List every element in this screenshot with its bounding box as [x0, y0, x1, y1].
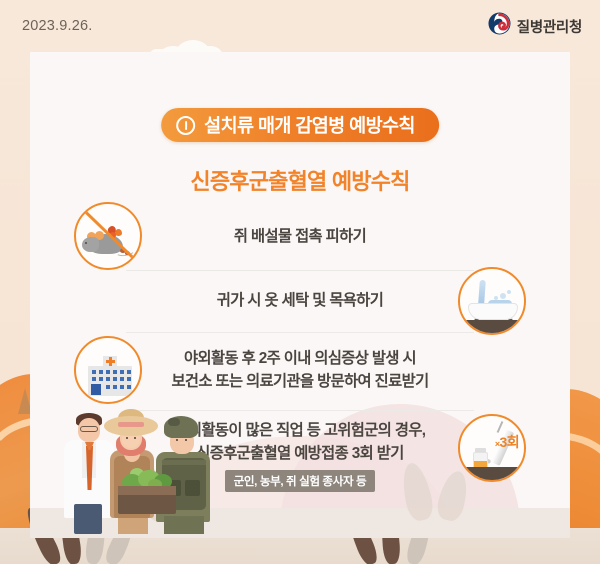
people-illustration: [52, 404, 230, 534]
agency-name: 질병관리청: [517, 16, 582, 37]
row-divider: [126, 270, 474, 271]
dose-count: 3회: [500, 434, 519, 450]
soldier-helmet-detail: [168, 418, 180, 426]
no-rat-icon: [74, 202, 142, 270]
soldier-legs: [164, 516, 204, 534]
hospital-icon: [74, 336, 142, 404]
syringe-icon: ×3회: [458, 414, 526, 482]
soldier-vest-strap: [162, 460, 206, 465]
soldier-pouch: [185, 480, 200, 496]
lab-researcher-pants: [74, 504, 102, 534]
rule-row: 쥐 배설물 접촉 피하기: [30, 204, 570, 270]
rule-text: 야외활동 후 2주 이내 의심증상 발생 시 보건소 또는 의료기관을 방문하여…: [85, 348, 514, 393]
page-subtitle: 신증후군출혈열 예방수칙: [30, 164, 570, 196]
rule-row: 귀가 시 옷 세탁 및 목욕하기: [30, 270, 570, 332]
publish-date: 2023.9.26.: [22, 18, 93, 34]
syringe-dose-label: ×3회: [495, 432, 519, 452]
lab-researcher-glasses: [80, 426, 98, 432]
row-divider: [126, 332, 474, 333]
high-risk-group-tag: 군인, 농부, 쥐 실험 종사자 등: [225, 470, 376, 492]
rule-row: 야외활동 후 2주 이내 의심증상 발생 시 보건소 또는 의료기관을 방문하여…: [30, 332, 570, 410]
title-badge: 설치류 매개 감염병 예방수칙: [161, 108, 439, 142]
bathtub-icon: [458, 267, 526, 335]
page-header: 2023.9.26. 질병관리청: [0, 0, 600, 52]
farmer-hat-band: [118, 422, 144, 427]
rule-text: 쥐 배설물 접촉 피하기: [148, 226, 452, 249]
exclamation-circle-icon: [176, 116, 195, 135]
title-badge-label: 설치류 매개 감염병 예방수칙: [204, 112, 415, 138]
taegeuk-logo-icon: [488, 12, 511, 40]
agency-branding: 질병관리청: [488, 12, 582, 40]
rule-text: 귀가 시 옷 세탁 및 목욕하기: [131, 290, 469, 313]
vegetable-crate-rim: [118, 486, 176, 495]
